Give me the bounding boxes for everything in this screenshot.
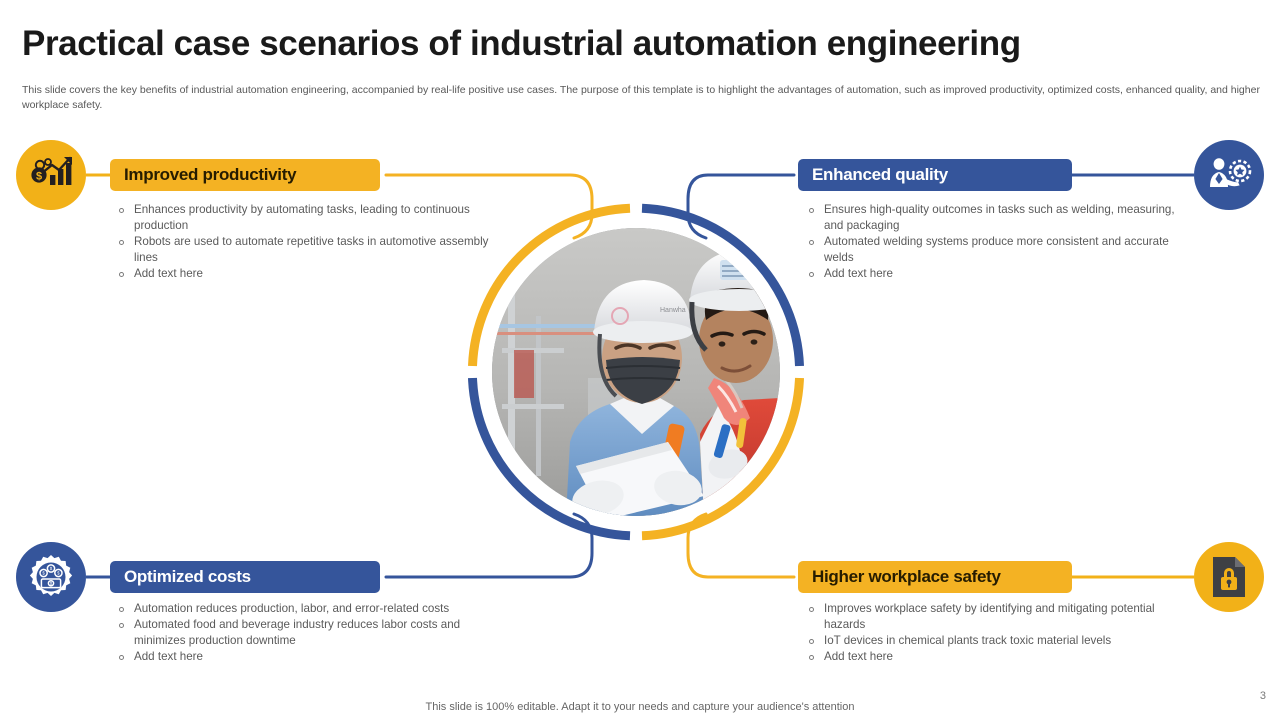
title-optimized-costs[interactable]: Optimized costs [110, 561, 380, 593]
list-item: Robots are used to automate repetitive t… [110, 234, 500, 266]
list-item: Add text here [110, 649, 505, 665]
document-lock-icon [1194, 542, 1264, 612]
growth-chart-dollar-icon: $ [16, 140, 86, 210]
page-subtitle: This slide covers the key benefits of in… [22, 83, 1262, 113]
svg-text:$: $ [36, 171, 42, 183]
footer-note: This slide is 100% editable. Adapt it to… [0, 701, 1280, 713]
bullets-enhanced-quality: Ensures high-quality outcomes in tasks s… [800, 202, 1180, 282]
center-photo: Hanwha [492, 228, 780, 516]
gear-money-icon: $ $ $ $ [16, 542, 86, 612]
list-item: Automation reduces production, labor, an… [110, 601, 505, 617]
svg-text:Hanwha: Hanwha [660, 307, 686, 314]
list-item: Automated food and beverage industry red… [110, 617, 505, 649]
page-title: Practical case scenarios of industrial a… [22, 26, 1262, 63]
businessman-quality-badge-icon [1194, 140, 1264, 210]
list-item: Ensures high-quality outcomes in tasks s… [800, 202, 1180, 234]
list-item: Add text here [800, 649, 1180, 665]
list-item: Add text here [800, 266, 1180, 282]
bullets-higher-workplace-safety: Improves workplace safety by identifying… [800, 601, 1180, 665]
list-item: Enhances productivity by automating task… [110, 202, 500, 234]
bullets-improved-productivity: Enhances productivity by automating task… [110, 202, 500, 282]
list-item: Improves workplace safety by identifying… [800, 601, 1180, 633]
title-higher-workplace-safety[interactable]: Higher workplace safety [798, 561, 1072, 593]
bullets-optimized-costs: Automation reduces production, labor, an… [110, 601, 505, 665]
list-item: Automated welding systems produce more c… [800, 234, 1180, 266]
list-item: Add text here [110, 266, 500, 282]
list-item: IoT devices in chemical plants track tox… [800, 633, 1180, 649]
title-enhanced-quality[interactable]: Enhanced quality [798, 159, 1072, 191]
page-number: 3 [1260, 690, 1266, 702]
title-improved-productivity[interactable]: Improved productivity [110, 159, 380, 191]
